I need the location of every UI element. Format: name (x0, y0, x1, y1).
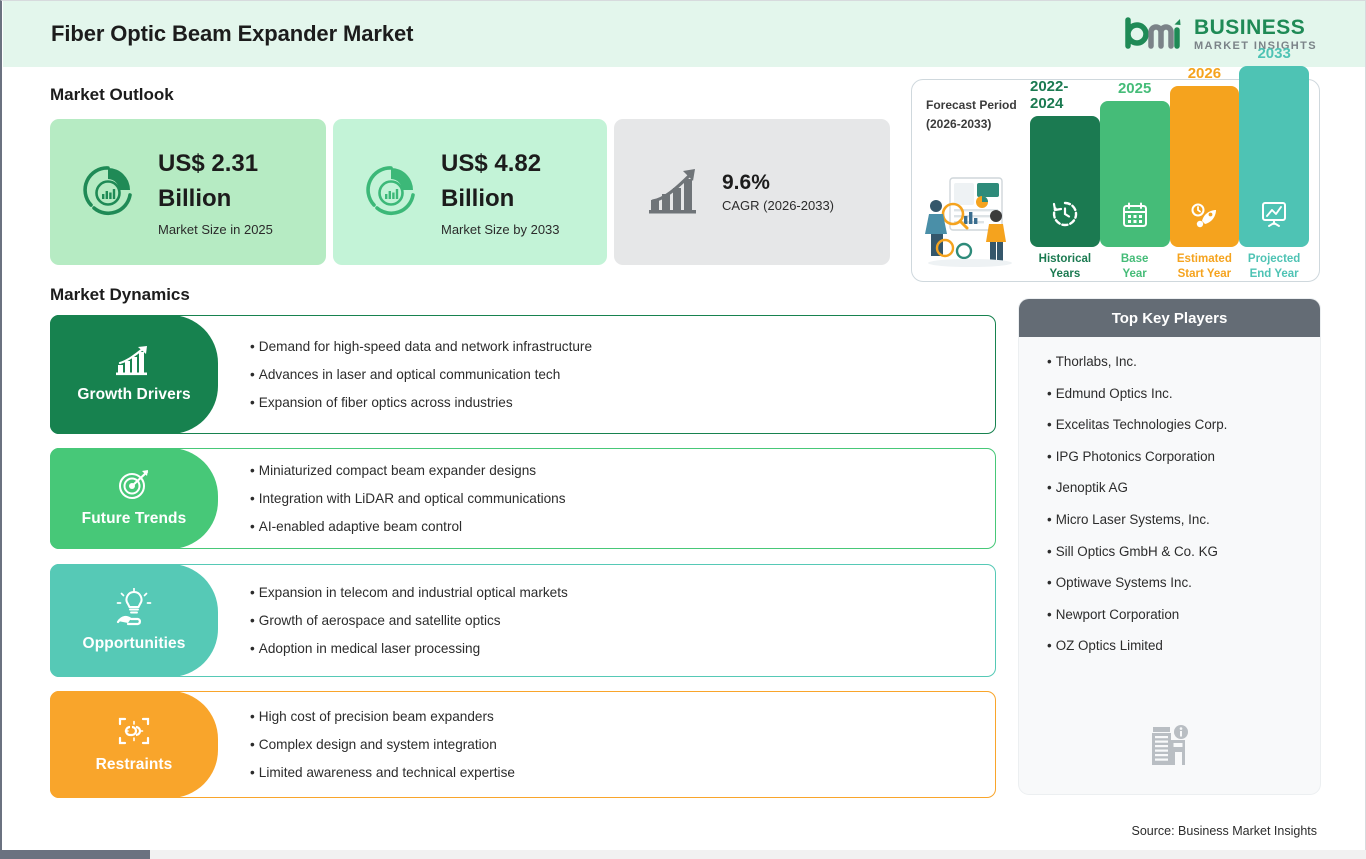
forecast-heading-line1: Forecast Period (926, 96, 1017, 115)
player-name: Thorlabs, Inc. (1056, 354, 1137, 369)
dynamics-bullet: •Expansion in telecom and industrial opt… (250, 585, 982, 600)
bullet-text: AI-enabled adaptive beam control (259, 519, 462, 534)
dynamics-row-growth-drivers: Growth Drivers •Demand for high-speed da… (50, 315, 996, 434)
dynamics-bullet: •Complex design and system integration (250, 737, 982, 752)
bullet-dot: • (1047, 607, 1052, 622)
caption-line2: End Year (1250, 268, 1299, 280)
bullet-dot: • (250, 613, 255, 628)
dynamics-bullet: •Limited awareness and technical experti… (250, 765, 982, 780)
forecast-bar-year: 2033 (1257, 45, 1290, 62)
caption-line2: Year (1122, 268, 1146, 280)
market-dynamics-title: Market Dynamics (50, 285, 190, 305)
dynamics-bullet: •AI-enabled adaptive beam control (250, 519, 982, 534)
bullet-text: Demand for high-speed data and network i… (259, 339, 592, 354)
bullet-text: Integration with LiDAR and optical commu… (259, 491, 566, 506)
dynamics-bullet: •High cost of precision beam expanders (250, 709, 982, 724)
list-item: •Thorlabs, Inc. (1047, 355, 1320, 368)
donut-chart-icon (80, 162, 136, 223)
bullet-dot: • (1047, 638, 1052, 653)
page-header: Fiber Optic Beam Expander Market BUSINES… (3, 1, 1365, 67)
bullet-text: Miniaturized compact beam expander desig… (259, 463, 536, 478)
bullet-dot: • (1047, 386, 1052, 401)
stat-card-cagr: 9.6% CAGR (2026-2033) (614, 119, 890, 265)
bullet-text: Complex design and system integration (259, 737, 497, 752)
bullet-dot: • (250, 339, 255, 354)
stat-value-line1: US$ 2.31 (158, 147, 273, 181)
forecast-bar-year: 2026 (1188, 65, 1221, 82)
bullet-dot: • (1047, 449, 1052, 464)
dynamics-bullet: •Advances in laser and optical communica… (250, 367, 982, 382)
player-name: OZ Optics Limited (1056, 638, 1163, 653)
bullet-dot: • (250, 709, 255, 724)
top-key-players-title: Top Key Players (1112, 310, 1228, 327)
forecast-bar-caption: Historical Years (1039, 252, 1091, 281)
forecast-bar-shape (1239, 66, 1309, 247)
dynamics-bullets: •High cost of precision beam expanders •… (250, 691, 982, 798)
dynamics-bullet: •Expansion of fiber optics across indust… (250, 395, 982, 410)
scrollbar-thumb[interactable] (2, 850, 150, 859)
target-dart-icon (117, 469, 151, 506)
source-note: Source: Business Market Insights (1132, 824, 1318, 838)
forecast-bar-estimated: 2026 Estimated Start Year (1170, 65, 1240, 281)
dynamics-bullet: •Adoption in medical laser processing (250, 641, 982, 656)
bullet-dot: • (250, 641, 255, 656)
estimate-rocket-icon (1190, 202, 1218, 233)
caption-line2: Years (1050, 268, 1081, 280)
forecast-bar-shape (1030, 116, 1100, 247)
forecast-bar-year: 2025 (1118, 80, 1151, 97)
bullet-dot: • (250, 519, 255, 534)
list-item: •Newport Corporation (1047, 608, 1320, 621)
bullet-dot: • (1047, 417, 1052, 432)
forecast-bar-shape (1100, 101, 1170, 247)
dynamics-label-future-trends: Future Trends (50, 448, 218, 549)
bullet-text: Limited awareness and technical expertis… (259, 765, 515, 780)
stat-label: Market Size by 2033 (441, 222, 560, 237)
bullet-dot: • (250, 737, 255, 752)
logo-brand-text: BUSINESS (1194, 17, 1317, 38)
page-title: Fiber Optic Beam Expander Market (51, 21, 413, 47)
stat-value-line1: US$ 4.82 (441, 147, 560, 181)
dynamics-bullet: •Demand for high-speed data and network … (250, 339, 982, 354)
forecast-bar-base: 2025 B (1100, 80, 1170, 281)
bullet-dot: • (250, 491, 255, 506)
dynamics-row-future-trends: Future Trends •Miniaturized compact beam… (50, 448, 996, 549)
infographic-page: Fiber Optic Beam Expander Market BUSINES… (0, 0, 1366, 859)
stat-text: US$ 2.31 Billion Market Size in 2025 (158, 147, 273, 236)
player-name: Micro Laser Systems, Inc. (1056, 512, 1210, 527)
stat-value-line2: Billion (158, 182, 273, 216)
dynamics-bullet: •Integration with LiDAR and optical comm… (250, 491, 982, 506)
bullet-dot: • (1047, 480, 1052, 495)
dynamics-bullet: •Growth of aerospace and satellite optic… (250, 613, 982, 628)
caption-line1: Base (1121, 253, 1149, 265)
bullet-dot: • (250, 765, 255, 780)
bullet-dot: • (250, 367, 255, 382)
list-item: •Sill Optics GmbH & Co. KG (1047, 545, 1320, 558)
analytics-team-illustration (920, 172, 1020, 273)
donut-chart-icon (363, 162, 419, 223)
stat-card-market-size-2025: US$ 2.31 Billion Market Size in 2025 (50, 119, 326, 265)
dynamics-bullets: •Expansion in telecom and industrial opt… (250, 564, 982, 677)
bullet-dot: • (250, 395, 255, 410)
caption-line2: Start Year (1178, 268, 1232, 280)
list-item: •Excelitas Technologies Corp. (1047, 418, 1320, 431)
dynamics-label-opportunities: Opportunities (50, 564, 218, 677)
forecast-bar-caption: Projected End Year (1248, 252, 1300, 281)
dynamics-label-text: Growth Drivers (77, 386, 190, 404)
dynamics-bullets: •Miniaturized compact beam expander desi… (250, 448, 982, 549)
dynamics-bullets: •Demand for high-speed data and network … (250, 315, 982, 434)
forecast-bar-caption: Base Year (1121, 252, 1149, 281)
list-item: •Micro Laser Systems, Inc. (1047, 513, 1320, 526)
bullet-text: Adoption in medical laser processing (259, 641, 480, 656)
company-building-info-icon (1147, 723, 1193, 772)
bullet-dot: • (250, 463, 255, 478)
calendar-icon (1122, 202, 1148, 233)
dynamics-bullet: •Miniaturized compact beam expander desi… (250, 463, 982, 478)
market-outlook-title: Market Outlook (50, 85, 174, 105)
player-name: Sill Optics GmbH & Co. KG (1056, 544, 1218, 559)
top-key-players-panel: Top Key Players •Thorlabs, Inc. •Edmund … (1019, 299, 1320, 794)
forecast-bar-shape (1170, 86, 1240, 247)
constraint-frame-icon (117, 715, 151, 752)
list-item: •OZ Optics Limited (1047, 639, 1320, 652)
player-name: Optiwave Systems Inc. (1056, 575, 1192, 590)
bullet-text: Expansion of fiber optics across industr… (259, 395, 513, 410)
top-key-players-header: Top Key Players (1019, 299, 1320, 337)
list-item: •IPG Photonics Corporation (1047, 450, 1320, 463)
dynamics-label-text: Restraints (96, 756, 173, 774)
dynamics-row-opportunities: Opportunities •Expansion in telecom and … (50, 564, 996, 677)
caption-line1: Historical (1039, 253, 1091, 265)
lightbulb-hand-icon (114, 588, 154, 631)
bullet-text: Advances in laser and optical communicat… (259, 367, 561, 382)
player-name: Excelitas Technologies Corp. (1056, 417, 1228, 432)
bullet-text: Growth of aerospace and satellite optics (259, 613, 501, 628)
player-name: Edmund Optics Inc. (1056, 386, 1173, 401)
horizontal-scrollbar[interactable] (2, 850, 1366, 859)
bullet-dot: • (1047, 544, 1052, 559)
bar-chart-arrow-icon (116, 345, 152, 382)
bullet-dot: • (250, 585, 255, 600)
dynamics-row-restraints: Restraints •High cost of precision beam … (50, 691, 996, 798)
top-key-players-list: •Thorlabs, Inc. •Edmund Optics Inc. •Exc… (1019, 337, 1320, 653)
forecast-heading-line2: (2026-2033) (926, 115, 1017, 134)
history-clock-icon (1051, 200, 1079, 233)
bullet-text: High cost of precision beam expanders (259, 709, 494, 724)
growth-arrow-chart-icon (648, 164, 706, 221)
stat-text: 9.6% CAGR (2026-2033) (722, 171, 834, 213)
caption-line1: Estimated (1177, 253, 1232, 265)
player-name: Newport Corporation (1056, 607, 1180, 622)
forecast-bar-projected: 2033 Projected End Year (1239, 45, 1309, 281)
list-item: •Edmund Optics Inc. (1047, 387, 1320, 400)
dynamics-label-text: Future Trends (82, 510, 187, 528)
bullet-dot: • (1047, 354, 1052, 369)
forecast-bar-historical: 2022-2024 Historical Years (1030, 78, 1100, 281)
stat-label: Market Size in 2025 (158, 222, 273, 237)
stat-label: CAGR (2026-2033) (722, 198, 834, 213)
player-name: Jenoptik AG (1056, 480, 1128, 495)
bullet-text: Expansion in telecom and industrial opti… (259, 585, 568, 600)
forecast-heading: Forecast Period (2026-2033) (926, 96, 1017, 133)
dynamics-label-restraints: Restraints (50, 691, 218, 798)
forecast-bar-caption: Estimated Start Year (1177, 252, 1232, 281)
bullet-dot: • (1047, 575, 1052, 590)
stat-card-market-size-2033: US$ 4.82 Billion Market Size by 2033 (333, 119, 607, 265)
list-item: •Optiwave Systems Inc. (1047, 576, 1320, 589)
bmi-logo-icon (1124, 16, 1184, 52)
caption-line1: Projected (1248, 253, 1300, 265)
dynamics-label-text: Opportunities (83, 635, 186, 653)
stat-value-line2: Billion (441, 182, 560, 216)
dynamics-label-growth-drivers: Growth Drivers (50, 315, 218, 434)
forecast-bar-year: 2022-2024 (1030, 78, 1100, 112)
forecast-period-panel: Forecast Period (2026-2033) (911, 79, 1320, 282)
forecast-bars: 2022-2024 Historical Years 2 (1030, 80, 1309, 281)
list-item: •Jenoptik AG (1047, 481, 1320, 494)
bullet-dot: • (1047, 512, 1052, 527)
stat-text: US$ 4.82 Billion Market Size by 2033 (441, 147, 560, 236)
presentation-board-icon (1260, 200, 1288, 233)
player-name: IPG Photonics Corporation (1056, 449, 1215, 464)
stat-value: 9.6% (722, 171, 834, 195)
